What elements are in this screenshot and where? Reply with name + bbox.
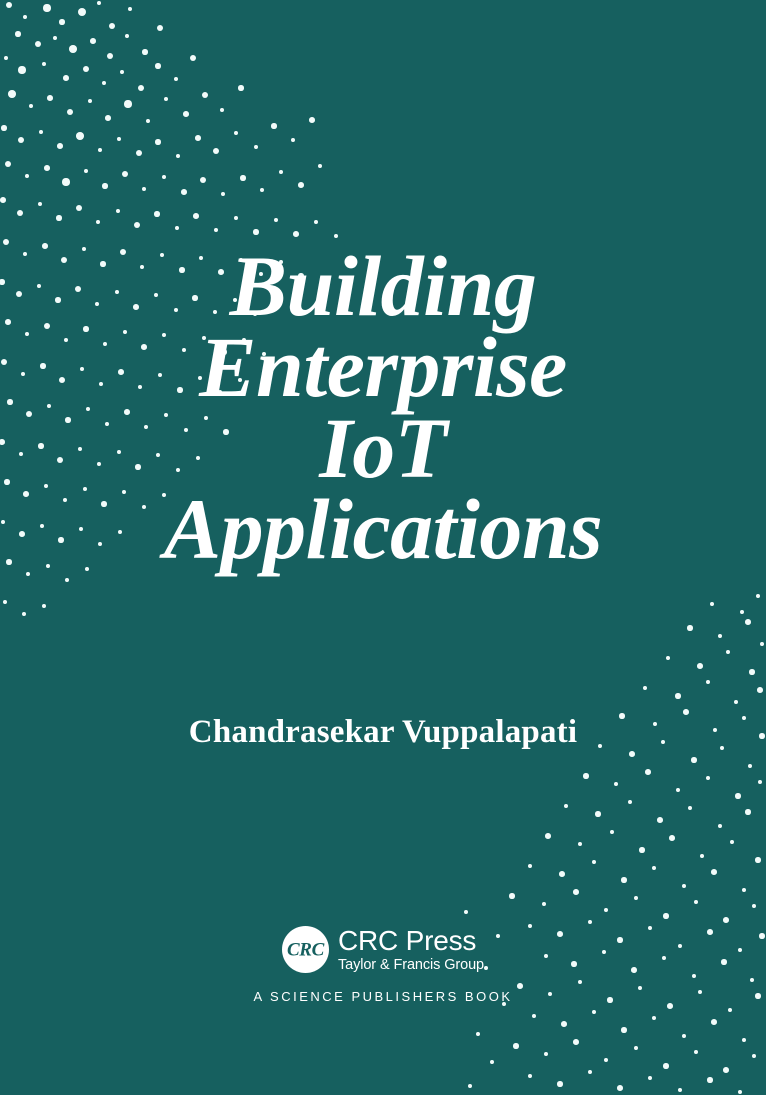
decorative-dot <box>164 97 168 101</box>
decorative-dot <box>513 1043 518 1048</box>
decorative-dot <box>47 95 53 101</box>
decorative-dot <box>528 864 533 869</box>
decorative-dot <box>84 169 88 173</box>
decorative-dot <box>98 148 103 153</box>
title-line-4: Applications <box>0 489 766 570</box>
decorative-dot <box>240 175 245 180</box>
title-line-2: Enterprise <box>0 327 766 408</box>
decorative-dot <box>745 619 751 625</box>
decorative-dot <box>610 830 614 834</box>
decorative-dot <box>120 70 124 74</box>
decorative-dot <box>734 700 738 704</box>
decorative-dot <box>464 910 468 914</box>
decorative-dot <box>8 90 16 98</box>
decorative-dot <box>63 75 69 81</box>
decorative-dot <box>122 171 128 177</box>
decorative-dot <box>88 99 92 103</box>
decorative-dot <box>125 34 129 38</box>
decorative-dot <box>56 215 61 220</box>
decorative-dot <box>738 1090 743 1095</box>
decorative-dot <box>181 189 187 195</box>
decorative-dot <box>667 1003 673 1009</box>
decorative-dot <box>3 239 9 245</box>
decorative-dot <box>666 656 671 661</box>
decorative-dot <box>706 680 711 685</box>
decorative-dot <box>214 228 219 233</box>
decorative-dot <box>234 216 238 220</box>
decorative-dot <box>25 174 30 179</box>
decorative-dot <box>254 145 259 150</box>
decorative-dot <box>559 871 565 877</box>
decorative-dot <box>39 130 43 134</box>
decorative-dot <box>691 757 696 762</box>
decorative-dot <box>15 31 20 36</box>
decorative-dot <box>136 150 142 156</box>
decorative-dot <box>678 1088 682 1092</box>
decorative-dot <box>154 211 159 216</box>
decorative-dot <box>564 804 568 808</box>
decorative-dot <box>532 1014 537 1019</box>
decorative-dot <box>682 884 686 888</box>
decorative-dot <box>69 45 77 53</box>
decorative-dot <box>18 66 25 73</box>
decorative-dot <box>18 137 25 144</box>
decorative-dot <box>476 1032 480 1036</box>
decorative-dot <box>90 38 96 44</box>
decorative-dot <box>697 663 703 669</box>
decorative-dot <box>748 764 752 768</box>
decorative-dot <box>43 4 50 11</box>
decorative-dot <box>279 170 283 174</box>
crc-press-logo: CRC CRC Press Taylor & Francis Group <box>282 926 484 973</box>
decorative-dot <box>0 197 6 203</box>
decorative-dot <box>755 857 760 862</box>
decorative-dot <box>752 1054 756 1058</box>
decorative-dot <box>643 686 647 690</box>
decorative-dot <box>67 109 73 115</box>
title-line-3: IoT <box>0 408 766 489</box>
decorative-dot <box>728 1008 733 1013</box>
decorative-dot <box>528 1074 533 1079</box>
decorative-dot <box>59 19 64 24</box>
decorative-dot <box>298 182 304 188</box>
publisher-imprint: Taylor & Francis Group <box>338 958 484 973</box>
decorative-dot <box>718 824 723 829</box>
decorative-dot <box>116 209 120 213</box>
decorative-dot <box>700 854 704 858</box>
decorative-dot <box>76 205 82 211</box>
decorative-dot <box>293 231 299 237</box>
decorative-dot <box>76 132 84 140</box>
decorative-dot <box>592 1010 596 1014</box>
decorative-dot <box>57 143 63 149</box>
decorative-dot <box>629 751 635 757</box>
decorative-dot <box>710 602 715 607</box>
decorative-dot <box>682 1034 686 1038</box>
decorative-dot <box>155 63 160 68</box>
decorative-dot <box>756 594 760 598</box>
decorative-dot <box>588 1070 592 1074</box>
decorative-dot <box>614 782 618 786</box>
decorative-dot <box>634 1046 638 1050</box>
decorative-dot <box>213 148 219 154</box>
decorative-dot <box>238 85 243 90</box>
decorative-dot <box>578 842 583 847</box>
decorative-dot <box>38 202 42 206</box>
decorative-dot <box>234 131 238 135</box>
decorative-dot <box>657 817 663 823</box>
decorative-dot <box>3 600 8 605</box>
decorative-dot <box>102 183 107 188</box>
decorative-dot <box>260 188 265 193</box>
decorative-dot <box>573 889 579 895</box>
decorative-dot <box>694 1050 699 1055</box>
decorative-dot <box>5 161 11 167</box>
decorative-dot <box>162 175 166 179</box>
decorative-dot <box>542 902 546 906</box>
decorative-dot <box>146 119 151 124</box>
decorative-dot <box>687 625 692 630</box>
decorative-dot <box>711 1019 717 1025</box>
crc-circle-icon: CRC <box>282 926 329 973</box>
decorative-dot <box>595 811 600 816</box>
decorative-dot <box>83 66 90 73</box>
decorative-dot <box>109 23 115 29</box>
decorative-dot <box>62 178 69 185</box>
decorative-dot <box>44 165 50 171</box>
decorative-dot <box>105 115 111 121</box>
decorative-dot <box>195 135 201 141</box>
decorative-dot <box>176 154 180 158</box>
decorative-dot <box>490 1060 494 1064</box>
decorative-dot <box>138 85 144 91</box>
decorative-dot <box>742 888 747 893</box>
decorative-dot <box>314 220 318 224</box>
decorative-dot <box>271 123 276 128</box>
decorative-dot <box>97 1 101 5</box>
decorative-dot <box>718 634 722 638</box>
book-title: Building Enterprise IoT Applications <box>0 246 766 570</box>
decorative-dot <box>652 1016 657 1021</box>
decorative-dot <box>669 835 675 841</box>
decorative-dot <box>561 1021 567 1027</box>
author-name: Chandrasekar Vuppalapati <box>0 714 766 751</box>
title-line-1: Building <box>0 246 766 327</box>
decorative-dot <box>588 920 592 924</box>
decorative-dot <box>291 138 295 142</box>
decorative-dot <box>749 669 754 674</box>
decorative-dot <box>22 612 26 616</box>
decorative-dot <box>557 1081 562 1086</box>
decorative-dot <box>648 1076 653 1081</box>
decorative-dot <box>124 100 131 107</box>
decorative-dot <box>102 81 107 86</box>
decorative-dot <box>723 1067 729 1073</box>
decorative-dot <box>174 77 178 81</box>
decorative-dot <box>634 896 638 900</box>
decorative-dot <box>545 833 551 839</box>
decorative-dot <box>221 192 225 196</box>
decorative-dot <box>706 776 710 780</box>
decorative-dot <box>253 229 258 234</box>
decorative-dot <box>617 1085 623 1091</box>
decorative-dot <box>96 220 101 225</box>
decorative-dot <box>573 1039 579 1045</box>
decorative-dot <box>309 117 315 123</box>
crc-monogram: CRC <box>287 941 324 960</box>
decorative-dot <box>745 809 750 814</box>
decorative-dot <box>4 56 9 61</box>
decorative-dot <box>175 226 179 230</box>
decorative-dot <box>468 1084 473 1089</box>
decorative-dot <box>1 125 6 130</box>
decorative-dot <box>740 610 744 614</box>
decorative-dot <box>735 793 740 798</box>
decorative-dot <box>592 860 596 864</box>
decorative-dot <box>35 41 42 48</box>
decorative-dot <box>107 53 113 59</box>
decorative-dot <box>190 55 196 61</box>
series-line: A SCIENCE PUBLISHERS BOOK <box>253 989 512 1004</box>
decorative-dot <box>628 800 633 805</box>
decorative-dot <box>78 8 86 16</box>
decorative-dot <box>621 1027 626 1032</box>
decorative-dot <box>26 572 30 576</box>
decorative-dot <box>142 49 147 54</box>
decorative-dot <box>117 137 121 141</box>
decorative-dot <box>42 604 46 608</box>
decorative-dot <box>639 847 644 852</box>
decorative-dot <box>142 187 147 192</box>
book-cover: Building Enterprise IoT Applications Cha… <box>0 0 766 1095</box>
decorative-dot <box>652 866 657 871</box>
decorative-dot <box>757 687 763 693</box>
decorative-dot <box>509 893 514 898</box>
decorative-dot <box>726 650 730 654</box>
decorative-dot <box>155 139 160 144</box>
decorative-dot <box>183 111 189 117</box>
decorative-dot <box>202 92 208 98</box>
decorative-dot <box>645 769 651 775</box>
decorative-dot <box>318 164 322 168</box>
decorative-dot <box>604 1058 609 1063</box>
decorative-dot <box>711 869 717 875</box>
decorative-dot <box>65 578 69 582</box>
publisher-wordmark: CRC Press Taylor & Francis Group <box>338 927 484 973</box>
decorative-dot <box>6 2 12 8</box>
decorative-dot <box>274 218 278 222</box>
decorative-dot <box>730 840 735 845</box>
decorative-dot <box>663 1063 668 1068</box>
decorative-dot <box>220 108 224 112</box>
decorative-dot <box>29 104 34 109</box>
decorative-dot <box>688 806 692 810</box>
publisher-block: CRC CRC Press Taylor & Francis Group A S… <box>0 926 766 1004</box>
decorative-dot <box>723 917 729 923</box>
decorative-dot <box>758 780 763 785</box>
decorative-dot <box>742 1038 747 1043</box>
decorative-dot <box>17 210 24 217</box>
decorative-dot <box>53 36 57 40</box>
decorative-dot <box>157 25 163 31</box>
decorative-dot <box>604 908 609 913</box>
decorative-dot <box>42 62 46 66</box>
decorative-dot <box>200 177 206 183</box>
decorative-dot <box>752 904 756 908</box>
decorative-dot <box>676 788 681 793</box>
decorative-dot <box>760 642 764 646</box>
decorative-dot <box>134 222 140 228</box>
decorative-dot <box>694 900 699 905</box>
decorative-dot <box>128 7 133 12</box>
decorative-dot <box>707 1077 712 1082</box>
decorative-dot <box>621 877 626 882</box>
decorative-dot <box>675 693 680 698</box>
decorative-dot <box>663 913 668 918</box>
publisher-name: CRC Press <box>338 927 476 955</box>
decorative-dot <box>583 773 588 778</box>
decorative-dot <box>193 213 199 219</box>
decorative-dot <box>23 15 28 20</box>
decorative-dot <box>544 1052 548 1056</box>
